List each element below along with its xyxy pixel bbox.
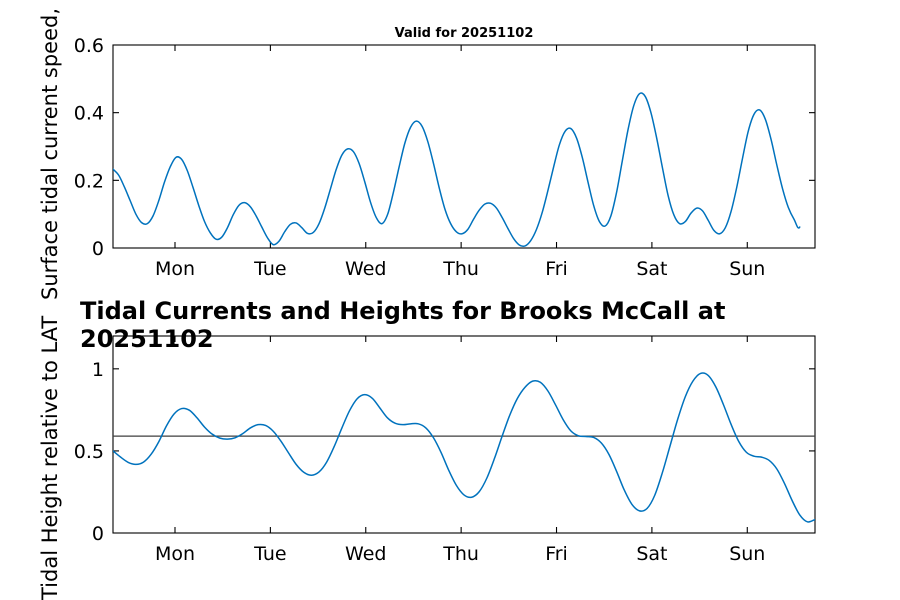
x-tick-label-mon: Mon [155, 543, 195, 565]
y-tick-label: 0.5 [74, 441, 104, 463]
top-chart-axes: 00.20.40.6MonTueWedThuFriSatSun [74, 35, 815, 280]
plot-canvas: 00.20.40.6MonTueWedThuFriSatSun 00.51Mon… [0, 0, 900, 600]
bottom-chart-axes: 00.51MonTueWedThuFriSatSun [74, 336, 815, 565]
y-tick-label: 0.2 [74, 170, 104, 192]
y-tick-label: 0.4 [74, 103, 104, 125]
x-tick-label-sat: Sat [636, 543, 667, 565]
x-tick-label-thu: Thu [442, 258, 479, 280]
tidal-height-series-line [113, 373, 815, 522]
x-tick-label-sun: Sun [729, 258, 765, 280]
surface-current-speed-series-line [113, 93, 800, 246]
x-tick-label-wed: Wed [345, 258, 386, 280]
x-tick-label-sat: Sat [636, 258, 667, 280]
x-tick-label-tue: Tue [253, 258, 286, 280]
bottom-axes-box [113, 336, 815, 533]
x-tick-label-mon: Mon [155, 258, 195, 280]
x-tick-label-sun: Sun [729, 543, 765, 565]
x-tick-label-fri: Fri [545, 543, 568, 565]
y-tick-label: 1 [92, 359, 104, 381]
top-axes-box [113, 45, 815, 248]
x-tick-label-thu: Thu [442, 543, 479, 565]
x-tick-label-fri: Fri [545, 258, 568, 280]
y-tick-label: 0 [92, 238, 104, 260]
y-tick-label: 0 [92, 523, 104, 545]
tidal-figure: Surface tidal current speed, kn Tidal He… [0, 0, 900, 600]
y-tick-label: 0.6 [74, 35, 104, 57]
x-tick-label-tue: Tue [253, 543, 286, 565]
x-tick-label-wed: Wed [345, 543, 386, 565]
